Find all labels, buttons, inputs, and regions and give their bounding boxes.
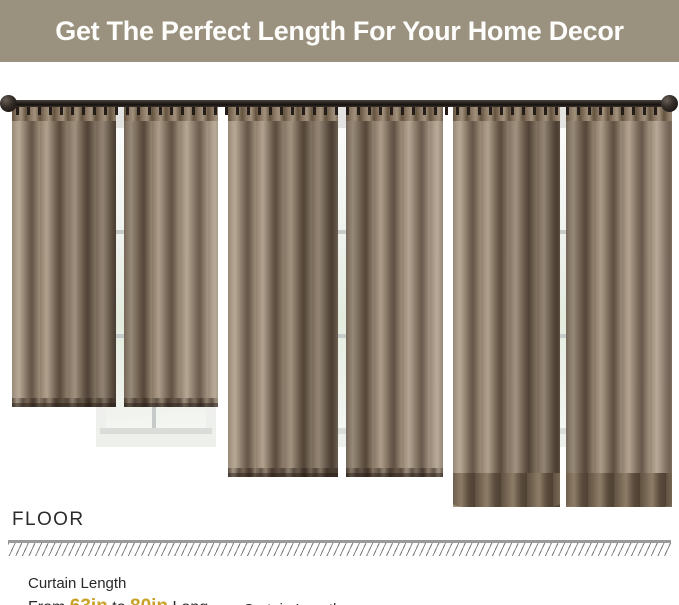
curtain-panel (566, 107, 672, 507)
caption-from-value: 63in (70, 596, 108, 605)
caption-title: Curtain Length (28, 574, 208, 594)
rod-hook-icon (291, 106, 294, 115)
rod-hook-icon (478, 106, 481, 115)
curtain-panel (124, 107, 218, 407)
rod-hook-icon (401, 106, 404, 115)
rod-hook-icon (82, 106, 85, 115)
caption-prefix: From (28, 599, 70, 605)
rod-hook-icon (654, 106, 657, 115)
rod-hook-icon (236, 106, 239, 115)
curtain-rod (8, 100, 664, 107)
rod-hook-icon (412, 106, 415, 115)
rod-hook-icon (544, 106, 547, 115)
rod-hook-icon (225, 106, 228, 115)
curtain-fabric (346, 107, 443, 477)
rod-hook-icon (577, 106, 580, 115)
curtain-fabric (228, 107, 338, 477)
rod-hook-icon (368, 106, 371, 115)
window-sill-left (100, 428, 212, 434)
rod-hook-icon (126, 106, 129, 115)
curtain-fabric (566, 107, 672, 507)
floor-label: FLOOR (12, 509, 84, 531)
rod-hook-icon (445, 106, 448, 115)
rod-hook-icon (104, 106, 107, 115)
curtain-panel (228, 107, 338, 477)
rod-hook-icon (632, 106, 635, 115)
rod-hook-icon (434, 106, 437, 115)
rod-hook-icon (148, 106, 151, 115)
rod-hook-icon (137, 106, 140, 115)
curtain-panel (346, 107, 443, 477)
rod-hook-icon (324, 106, 327, 115)
rod-hook-icon (599, 106, 602, 115)
rod-hook-icon (280, 106, 283, 115)
curtain-hem-shadow (124, 403, 218, 407)
curtain-header-pleat (228, 107, 338, 121)
rod-hook-icon (170, 106, 173, 115)
curtain-hem-shadow (228, 473, 338, 477)
caption-length-84-96: Curtain Length From 84in to 96in Long (243, 600, 423, 605)
rod-hook-icon (49, 106, 52, 115)
rod-hook-icon (456, 106, 459, 115)
curtain-puddle (566, 473, 672, 507)
rod-hook-icon (60, 106, 63, 115)
rod-hook-icon (313, 106, 316, 115)
rod-hook-icon (71, 106, 74, 115)
caption-range: From 63in to 80in Long (28, 594, 208, 605)
rod-hook-icon (203, 106, 206, 115)
caption-suffix: Long (168, 599, 208, 605)
curtain-panel (12, 107, 116, 407)
curtain-panel (453, 107, 560, 507)
rod-hook-icon (566, 106, 569, 115)
caption-to-value: 80in (130, 596, 168, 605)
rod-hook-icon (192, 106, 195, 115)
header-banner: Get The Perfect Length For Your Home Dec… (0, 0, 679, 62)
rod-hook-icon (335, 106, 338, 115)
curtain-fabric (12, 107, 116, 407)
rod-hook-icon (159, 106, 162, 115)
curtain-fabric (124, 107, 218, 407)
page-title: Get The Perfect Length For Your Home Dec… (55, 18, 624, 45)
rod-hook-icon (610, 106, 613, 115)
rod-hook-icon (522, 106, 525, 115)
rod-hook-icon (390, 106, 393, 115)
rod-hook-icon (489, 106, 492, 115)
rod-hook-icon (214, 106, 217, 115)
rod-hook-icon (533, 106, 536, 115)
rod-hook-icon (500, 106, 503, 115)
rod-hook-icon (346, 106, 349, 115)
curtain-hem-shadow (346, 473, 443, 477)
rod-hook-icon (258, 106, 261, 115)
caption-title: Curtain Length (243, 600, 423, 605)
rod-hook-icon (621, 106, 624, 115)
rod-hook-icon (357, 106, 360, 115)
curtain-hem-shadow (12, 403, 116, 407)
rod-hook-icon (93, 106, 96, 115)
caption-middle: to (108, 599, 130, 605)
curtain-header-pleat (346, 107, 443, 121)
curtain-fabric (453, 107, 560, 507)
rod-hook-icon (379, 106, 382, 115)
rod-hook-icon (588, 106, 591, 115)
curtain-scene: FLOOR Curtain Length From 63in to 80in L… (0, 62, 679, 605)
curtain-puddle (453, 473, 560, 507)
rod-hook-icon (269, 106, 272, 115)
product-infographic: Get The Perfect Length For Your Home Dec… (0, 0, 679, 605)
rod-hook-icon (511, 106, 514, 115)
rod-finial-right-icon (661, 95, 678, 112)
rod-hook-icon (302, 106, 305, 115)
rod-hook-icon (247, 106, 250, 115)
floor-hatch (8, 543, 671, 556)
rod-hook-icon (181, 106, 184, 115)
rod-hook-icon (38, 106, 41, 115)
rod-finial-left-icon (0, 95, 17, 112)
caption-length-63-80: Curtain Length From 63in to 80in Long (28, 574, 208, 605)
rod-hook-icon (115, 106, 118, 115)
rod-hook-icon (27, 106, 30, 115)
rod-hook-icon (555, 106, 558, 115)
rod-hook-icon (16, 106, 19, 115)
rod-hook-icon (643, 106, 646, 115)
rod-hook-icon (423, 106, 426, 115)
rod-hook-icon (467, 106, 470, 115)
